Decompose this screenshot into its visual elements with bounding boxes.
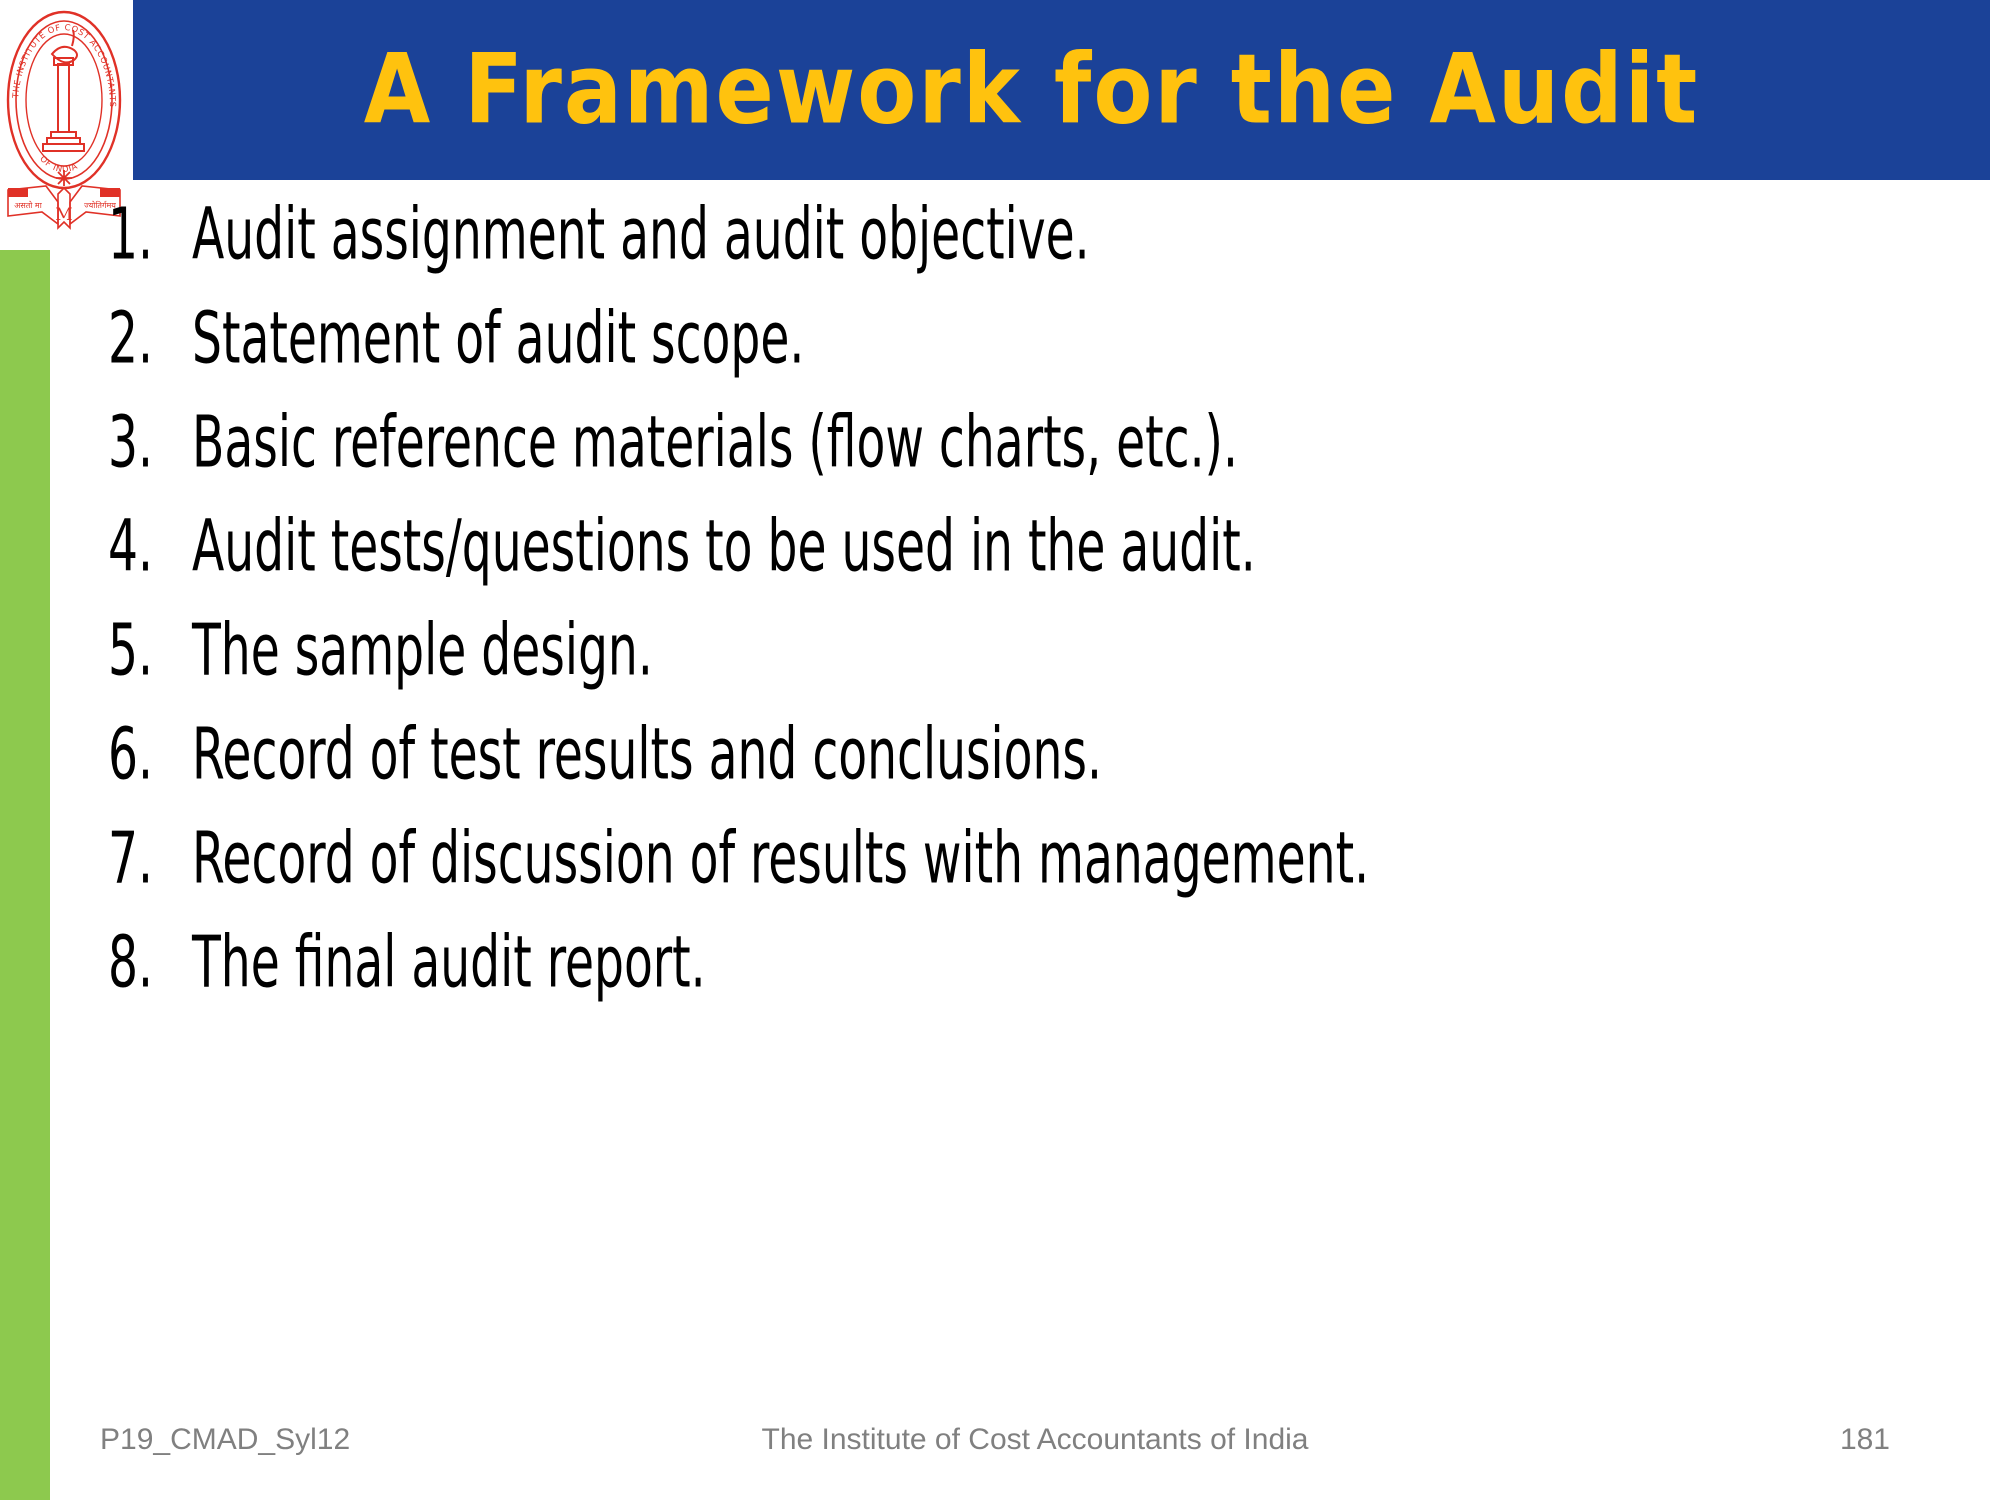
logo-monogram: M bbox=[55, 205, 72, 225]
list-item-text: Statement of audit scope. bbox=[192, 304, 804, 375]
footer-page-number: 181 bbox=[1670, 1423, 1890, 1457]
list-item-text: The sample design. bbox=[192, 616, 653, 687]
list-item: 8. The final audit report. bbox=[108, 942, 1908, 1046]
svg-text:OF INDIA: OF INDIA bbox=[38, 153, 79, 174]
list-item-number: 6. bbox=[108, 720, 185, 791]
list-item-text: The final audit report. bbox=[192, 928, 706, 999]
page-title: A Framework for the Audit bbox=[364, 42, 1700, 138]
list-item-text: Record of test results and conclusions. bbox=[192, 720, 1102, 791]
slide-header-band: A Framework for the Audit bbox=[133, 0, 1990, 180]
slide-footer: P19_CMAD_Syl12 The Institute of Cost Acc… bbox=[100, 1415, 1890, 1465]
left-green-accent-bar bbox=[0, 250, 50, 1500]
list-item-number: 3. bbox=[108, 408, 185, 479]
list-item-text: Audit assignment and audit objective. bbox=[192, 200, 1090, 271]
footer-institute-name: The Institute of Cost Accountants of Ind… bbox=[520, 1423, 1670, 1457]
list-item-number: 8. bbox=[108, 928, 185, 999]
list-item-text: Audit tests/questions to be used in the … bbox=[192, 512, 1256, 583]
list-item-text: Basic reference materials (flow charts, … bbox=[192, 408, 1238, 479]
list-item-number: 5. bbox=[108, 616, 185, 687]
framework-list: 1. Audit assignment and audit objective.… bbox=[108, 214, 1908, 1334]
list-item-number: 7. bbox=[108, 824, 185, 895]
footer-syllabus-code: P19_CMAD_Syl12 bbox=[100, 1423, 520, 1457]
list-item-number: 1. bbox=[108, 200, 185, 271]
svg-text:असतो मा: असतो मा bbox=[14, 200, 42, 210]
list-item-text: Record of discussion of results with man… bbox=[192, 824, 1369, 895]
list-item-number: 4. bbox=[108, 512, 185, 583]
list-item-number: 2. bbox=[108, 304, 185, 375]
